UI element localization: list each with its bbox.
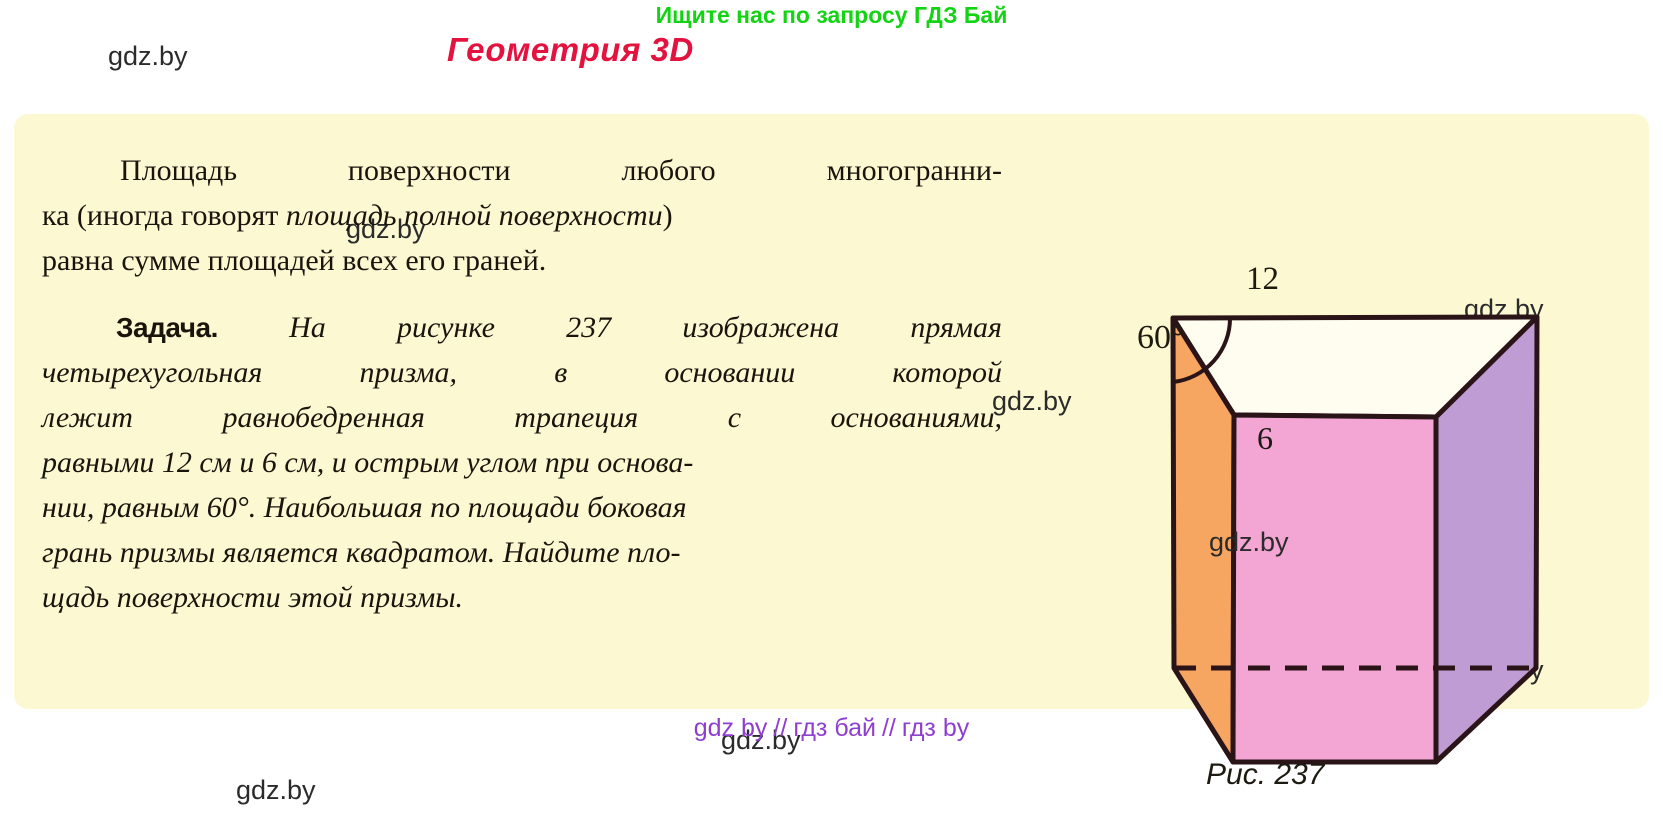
- content-panel: gdz.by gdz.by gdz.by gdz.by gdz.by gdz.b…: [14, 114, 1649, 709]
- footer-links: gdz by//гдз бай//гдз by: [0, 714, 1663, 743]
- word: призма,: [359, 350, 457, 395]
- paragraph-line: грань призмы является квадратом. Найдите…: [42, 530, 1002, 575]
- word: любого: [621, 148, 715, 193]
- word: трапеция: [514, 395, 638, 440]
- word: рисунке: [397, 305, 495, 350]
- figure-caption: Рис. 237: [1206, 758, 1324, 792]
- watermark-top-left: gdz.by: [108, 41, 188, 72]
- prism-front-face: [1233, 415, 1436, 762]
- paragraph-line: нии, равным 60°. Наибольшая по площади б…: [42, 485, 1002, 530]
- word: с: [728, 395, 741, 440]
- paragraph-line: Площадь поверхности любого многогранни-: [42, 148, 1002, 193]
- word: в: [554, 350, 567, 395]
- footer-separator: //: [876, 714, 902, 742]
- text-run: ка (иногда говорят: [42, 199, 286, 232]
- footer-item-3[interactable]: гдз by: [902, 714, 969, 742]
- word: Площадь: [120, 148, 237, 193]
- watermark-panel-bottomleft: gdz.by: [236, 775, 316, 806]
- paragraph-line: Задача. На рисунке 237 изображена прямая: [42, 305, 1002, 350]
- word: изображена: [682, 305, 839, 350]
- task-label: Задача.: [116, 305, 218, 350]
- footer-item-1[interactable]: gdz by: [694, 714, 768, 742]
- word: многогранни-: [827, 148, 1002, 193]
- edge-label-front: 6: [1257, 420, 1273, 457]
- word: лежит: [42, 395, 133, 440]
- paragraph-line: равными 12 см и 6 см, и острым углом при…: [42, 440, 1002, 485]
- footer-separator: //: [767, 714, 793, 742]
- text-run: ): [663, 199, 673, 232]
- text-run-italic: площадь полной поверхности: [286, 199, 663, 232]
- paragraph-line: лежит равнобедренная трапеция с основани…: [42, 395, 1002, 440]
- edge-label-top: 12: [1246, 261, 1279, 298]
- angle-label-60: 60°: [1137, 319, 1185, 357]
- word: поверхности: [348, 148, 511, 193]
- promo-banner: Ищите нас по запросу ГДЗ Бай: [0, 2, 1663, 29]
- paragraph-line: ка (иногда говорят площадь полной поверх…: [42, 193, 1002, 238]
- word: четырехугольная: [42, 350, 262, 395]
- word: равнобедренная: [222, 395, 424, 440]
- paragraph-line: четырехугольная призма, в основании кото…: [42, 350, 1002, 395]
- paragraph-task: Задача. На рисунке 237 изображена прямая…: [42, 305, 1002, 620]
- watermark-on-front-face: gdz.by: [1209, 527, 1289, 558]
- paragraph-definition: Площадь поверхности любого многогранни- …: [42, 148, 1002, 283]
- word: основании: [664, 350, 795, 395]
- word: На: [289, 305, 326, 350]
- footer-item-2[interactable]: гдз бай: [793, 714, 876, 742]
- word: которой: [892, 350, 1002, 395]
- word: 237: [566, 305, 611, 350]
- page-title: Геометрия 3D: [447, 31, 694, 69]
- paragraph-line: равна сумме площадей всех его граней.: [42, 238, 1002, 283]
- paragraph-line: щадь поверхности этой призмы.: [42, 575, 1002, 620]
- word: прямая: [910, 305, 1002, 350]
- word: основаниями,: [830, 395, 1002, 440]
